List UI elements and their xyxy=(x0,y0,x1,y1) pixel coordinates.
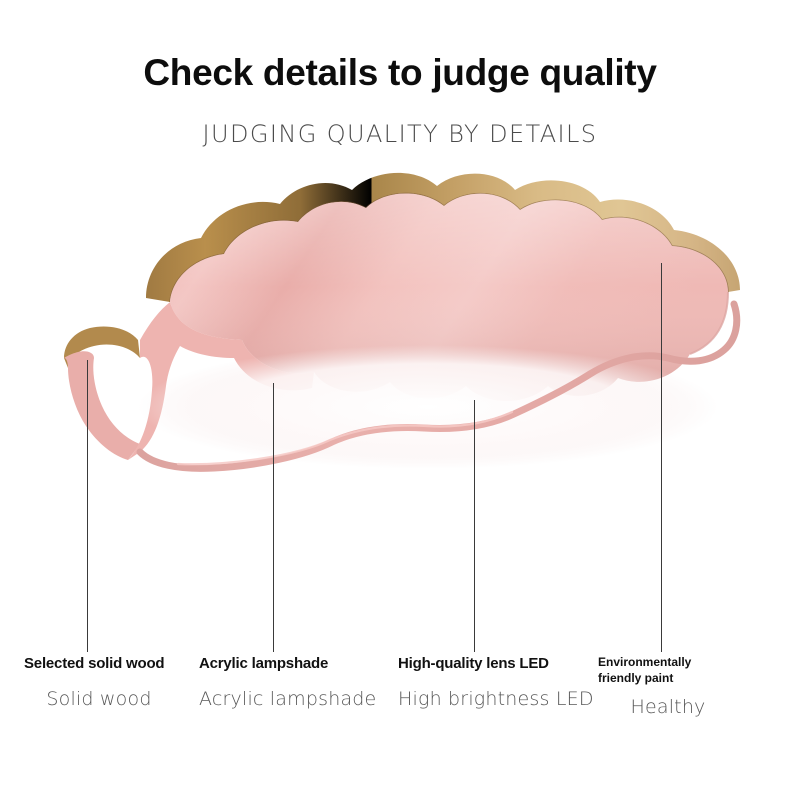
callout-title: High-quality lens LED xyxy=(398,655,570,672)
callout-environmentally-friendly-paint: Environmentally friendly paint Healthy xyxy=(598,655,738,718)
lamp-left-endcap-pink xyxy=(64,351,140,460)
lamp-diffuser-glow xyxy=(138,345,718,469)
callout-title: Selected solid wood xyxy=(24,655,174,672)
callout-high-quality-lens-led: High-quality lens LED High brightness LE… xyxy=(398,655,570,710)
callout-acrylic-lampshade: Acrylic lampshade Acrylic lampshade xyxy=(199,655,349,710)
cloud-lamp-svg xyxy=(28,172,772,472)
callout-subtitle: Acrylic lampshade xyxy=(199,688,349,710)
callout-selected-solid-wood: Selected solid wood Solid wood xyxy=(24,655,174,710)
product-image xyxy=(28,172,772,472)
page-subtitle: JUDGING QUALITY BY DETAILS xyxy=(0,120,800,148)
callout-subtitle: Solid wood xyxy=(24,688,174,710)
callout-labels: Selected solid wood Solid wood Acrylic l… xyxy=(0,655,800,745)
page-title: Check details to judge quality xyxy=(0,52,800,94)
callout-title: Acrylic lampshade xyxy=(199,655,349,672)
callout-subtitle: Healthy xyxy=(598,696,738,718)
callout-subtitle: High brightness LED xyxy=(398,688,570,710)
product-detail-page: Check details to judge quality JUDGING Q… xyxy=(0,0,800,800)
callout-title: Environmentally friendly paint xyxy=(598,655,738,686)
